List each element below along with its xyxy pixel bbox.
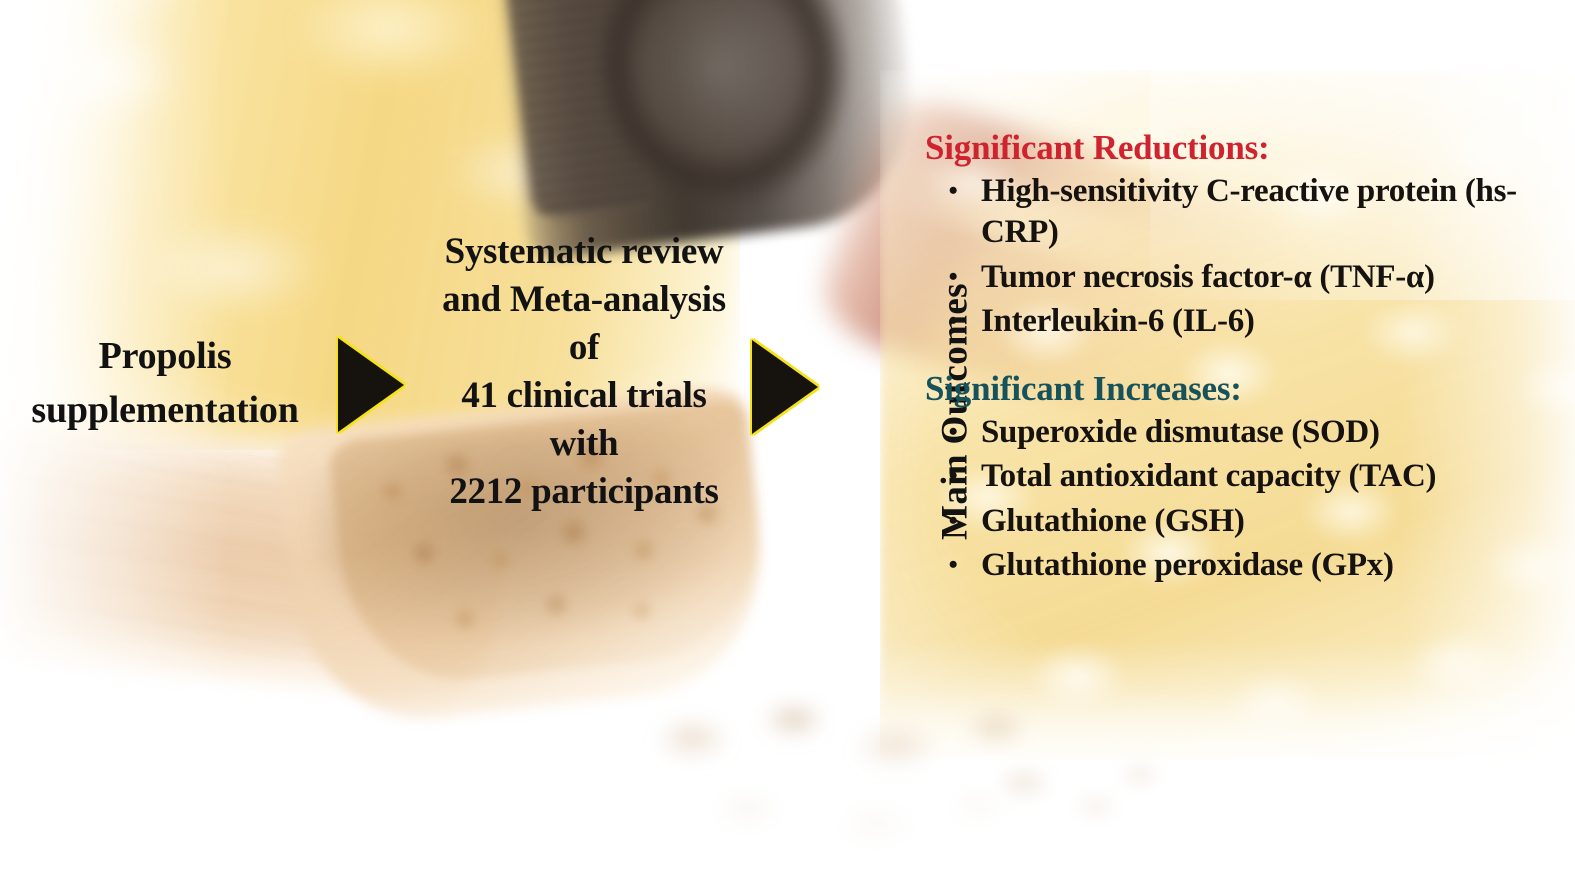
outcomes-panel: Significant Reductions: • High-sensitivi… xyxy=(925,128,1575,590)
propolis-chunks-photo xyxy=(610,690,1070,886)
stage-methods-label: Systematic review and Meta-analysis of 4… xyxy=(398,228,770,517)
list-item-label: Glutathione peroxidase (GPx) xyxy=(981,545,1575,587)
stage-methods-line-2: and Meta-analysis xyxy=(398,276,770,324)
significant-increases-list: • Superoxide dismutase (SOD) • Total ant… xyxy=(925,412,1575,587)
bullet-icon: • xyxy=(925,171,981,211)
significant-reductions-group: Significant Reductions: • High-sensitivi… xyxy=(925,128,1575,343)
honeycomb-fade-overlay xyxy=(880,640,1575,820)
list-item-label: High-sensitivity C-reactive protein (hs-… xyxy=(981,171,1575,254)
list-item: • Superoxide dismutase (SOD) xyxy=(925,412,1575,454)
stage-methods-line-6: 2212 participants xyxy=(398,468,770,516)
list-item: • Glutathione (GSH) xyxy=(925,501,1575,543)
list-item: • Interleukin-6 (IL-6) xyxy=(925,301,1575,343)
stage-intervention-line-2: supplementation xyxy=(0,384,330,438)
bullet-icon: • xyxy=(925,412,981,452)
list-item-label: Tumor necrosis factor-α (TNF-α) xyxy=(981,257,1575,299)
triangle-right-arrow-icon xyxy=(338,338,404,432)
bullet-icon: • xyxy=(925,456,981,496)
bottle-rim-photo xyxy=(583,0,876,225)
list-item: • Tumor necrosis factor-α (TNF-α) xyxy=(925,257,1575,299)
list-item: • Total antioxidant capacity (TAC) xyxy=(925,456,1575,498)
significant-reductions-heading: Significant Reductions: xyxy=(925,128,1575,169)
supplement-bottle-photo xyxy=(489,0,926,261)
significant-increases-group: Significant Increases: • Superoxide dism… xyxy=(925,369,1575,587)
propolis-chunks-photo-right xyxy=(980,740,1180,886)
bullet-icon: • xyxy=(925,301,981,341)
stage-methods-line-5: with xyxy=(398,420,770,468)
stage-intervention-label: Propolis supplementation xyxy=(0,330,330,438)
list-item-label: Superoxide dismutase (SOD) xyxy=(981,412,1575,454)
significant-reductions-list: • High-sensitivity C-reactive protein (h… xyxy=(925,171,1575,343)
list-item: • High-sensitivity C-reactive protein (h… xyxy=(925,171,1575,254)
stage-methods-line-4: 41 clinical trials xyxy=(398,372,770,420)
stage-intervention-line-1: Propolis xyxy=(0,330,330,384)
bottom-white-wash xyxy=(0,690,1575,886)
bullet-icon: • xyxy=(925,257,981,297)
bullet-icon: • xyxy=(925,545,981,585)
graphical-abstract: Propolis supplementation Systematic revi… xyxy=(0,0,1575,886)
bullet-icon: • xyxy=(925,501,981,541)
triangle-right-arrow-icon xyxy=(752,340,818,434)
stage-methods-line-1: Systematic review xyxy=(398,228,770,276)
stage-methods-line-3: of xyxy=(398,324,770,372)
list-item-label: Glutathione (GSH) xyxy=(981,501,1575,543)
list-item-label: Interleukin-6 (IL-6) xyxy=(981,301,1575,343)
list-item: • Glutathione peroxidase (GPx) xyxy=(925,545,1575,587)
significant-increases-heading: Significant Increases: xyxy=(925,369,1575,410)
left-white-wash xyxy=(0,0,230,886)
bottle-cap-photo xyxy=(498,0,652,220)
list-item-label: Total antioxidant capacity (TAC) xyxy=(981,456,1575,498)
